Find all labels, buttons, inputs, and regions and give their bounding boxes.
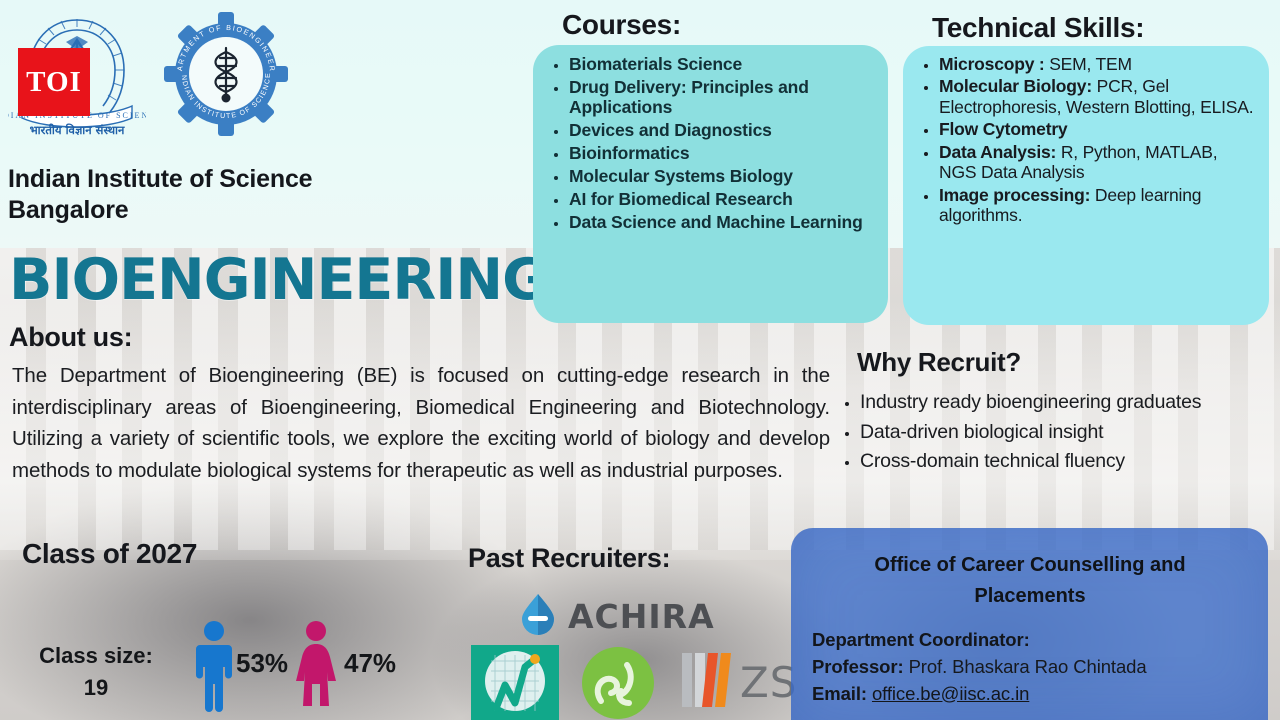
- list-item: Bioinformatics: [569, 143, 878, 163]
- coordinator-label: Department Coordinator:: [812, 629, 1030, 650]
- skill-label: Molecular Biology:: [939, 76, 1092, 96]
- courses-list: Biomaterials Science Drug Delivery: Prin…: [533, 45, 888, 232]
- list-item: Drug Delivery: Principles and Applicatio…: [569, 77, 878, 117]
- svg-text:ZS: ZS: [740, 658, 797, 707]
- courses-heading: Courses:: [562, 9, 681, 41]
- skill-label: Flow Cytometry: [939, 119, 1067, 139]
- about-body-text: The Department of Bioengineering (BE) is…: [12, 360, 830, 486]
- male-figure-icon: [190, 620, 238, 716]
- svg-text:भारतीय विज्ञान संस्थान: भारतीय विज्ञान संस्थान: [30, 123, 125, 137]
- recruiter-logo-green-circle: [571, 645, 665, 720]
- email-label: Email:: [812, 683, 867, 704]
- female-percent-label: 47%: [344, 648, 396, 679]
- skill-label: Microscopy :: [939, 54, 1045, 74]
- skill-label: Image processing:: [939, 185, 1090, 205]
- technical-skills-heading: Technical Skills:: [932, 12, 1144, 44]
- female-figure-icon: [292, 620, 340, 716]
- contact-details: Department Coordinator: Professor: Prof.…: [812, 627, 1268, 707]
- list-item: Data Science and Machine Learning: [569, 212, 878, 232]
- achira-logo: ACHIRA: [520, 592, 732, 636]
- list-item: Molecular Systems Biology: [569, 166, 878, 186]
- list-item: Industry ready bioengineering graduates: [860, 388, 1280, 418]
- past-recruiters-heading: Past Recruiters:: [468, 543, 670, 574]
- skill-label: Data Analysis:: [939, 142, 1056, 162]
- page-title: BIOENGINEERING: [9, 252, 548, 309]
- toi-label: TOI: [26, 68, 82, 97]
- professor-name: Prof. Bhaskara Rao Chintada: [904, 656, 1147, 677]
- skill-detail: SEM, TEM: [1045, 54, 1132, 74]
- coordinator-row: Department Coordinator:: [812, 627, 1268, 654]
- male-percent-label: 53%: [236, 648, 288, 679]
- why-recruit-heading: Why Recruit?: [857, 347, 1021, 378]
- email-link[interactable]: office.be@iisc.ac.in: [872, 683, 1029, 704]
- list-item: Data-driven biological insight: [860, 418, 1280, 448]
- list-item: Microscopy : SEM, TEM: [939, 54, 1257, 74]
- technical-skills-list: Microscopy : SEM, TEM Molecular Biology:…: [903, 46, 1269, 226]
- list-item: Molecular Biology: PCR, Gel Electrophore…: [939, 76, 1257, 117]
- list-item: Data Analysis: R, Python, MATLAB, NGS Da…: [939, 142, 1257, 183]
- courses-card: Biomaterials Science Drug Delivery: Prin…: [533, 45, 888, 323]
- email-row: Email: office.be@iisc.ac.in: [812, 681, 1268, 708]
- list-item: Devices and Diagnostics: [569, 120, 878, 140]
- why-recruit-list: Industry ready bioengineering graduates …: [836, 388, 1280, 477]
- list-item: Image processing: Deep learning algorith…: [939, 185, 1257, 226]
- recruiter-logo-teal-square: [471, 645, 559, 720]
- class-size-label: Class size:: [16, 640, 176, 672]
- list-item: Cross-domain technical fluency: [860, 447, 1280, 477]
- about-heading: About us:: [9, 322, 132, 353]
- svg-text:ACHIRA: ACHIRA: [568, 597, 715, 636]
- class-size-stat: Class size: 19: [16, 640, 176, 704]
- list-item: AI for Biomedical Research: [569, 189, 878, 209]
- poster-root: INDIAN INSTITUTE OF SCIENCE भारतीय विज्ञ…: [0, 0, 1280, 720]
- list-item: Biomaterials Science: [569, 54, 878, 74]
- zs-logo: ZS: [678, 645, 798, 717]
- bioengineering-department-logo: DEPARTMENT OF BIOENGINEERING INDIAN INST…: [156, 8, 296, 136]
- professor-label: Professor:: [812, 656, 904, 677]
- class-of-2027-heading: Class of 2027: [22, 538, 197, 570]
- toi-watermark-logo: TOI: [18, 48, 90, 116]
- contact-panel-title: Office of Career Counselling and Placeme…: [823, 550, 1237, 612]
- institution-name: Indian Institute of Science Bangalore: [8, 164, 438, 227]
- technical-skills-card: Microscopy : SEM, TEM Molecular Biology:…: [903, 46, 1269, 325]
- list-item: Flow Cytometry: [939, 119, 1257, 139]
- class-size-value: 19: [16, 672, 176, 704]
- professor-row: Professor: Prof. Bhaskara Rao Chintada: [812, 654, 1268, 681]
